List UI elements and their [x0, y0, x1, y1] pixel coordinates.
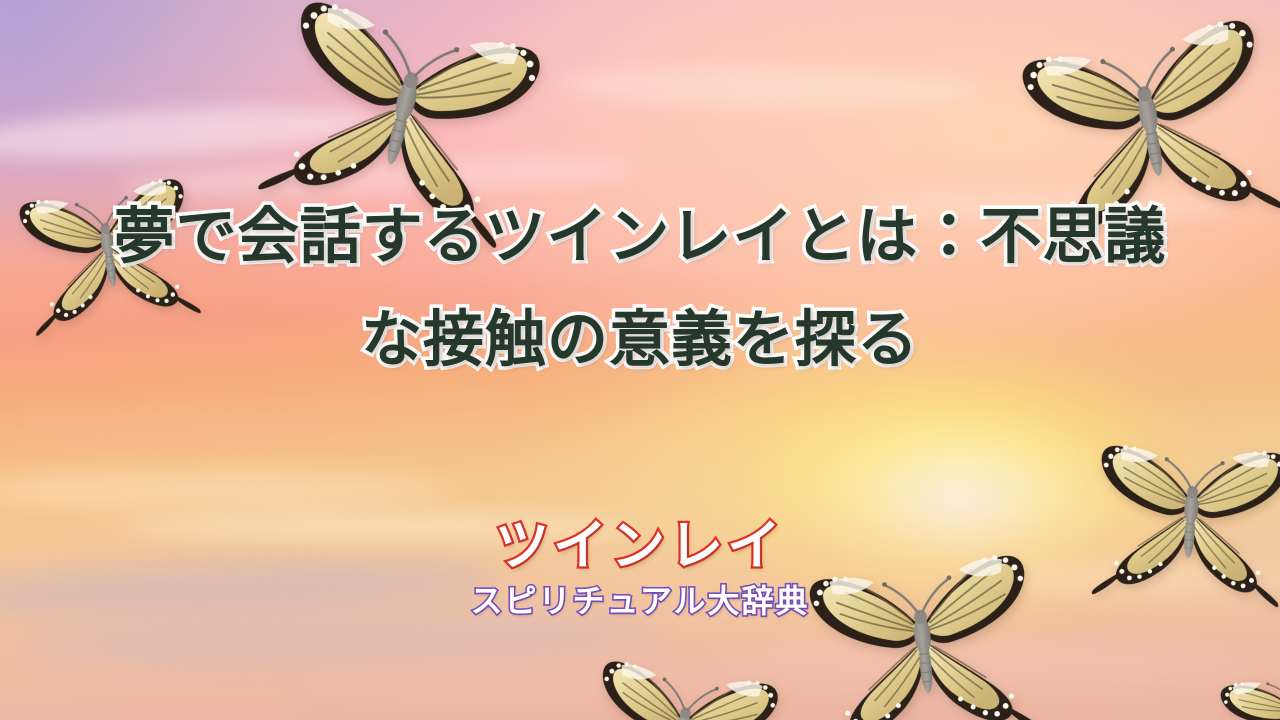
featured-image-canvas: 夢で会話するツインレイとは：不思議 な接触の意義を探る ツインレイ スピリチュア… — [0, 0, 1280, 720]
brand-tagline: スピリチュアル大辞典 — [0, 581, 1280, 621]
site-brand: ツインレイ スピリチュアル大辞典 — [0, 515, 1280, 621]
page-title: 夢で会話するツインレイとは：不思議 な接触の意義を探る — [0, 186, 1280, 392]
title-line-2: な接触の意義を探る — [0, 289, 1280, 392]
brand-name: ツインレイ — [0, 515, 1280, 577]
title-line-1: 夢で会話するツインレイとは：不思議 — [0, 186, 1280, 289]
